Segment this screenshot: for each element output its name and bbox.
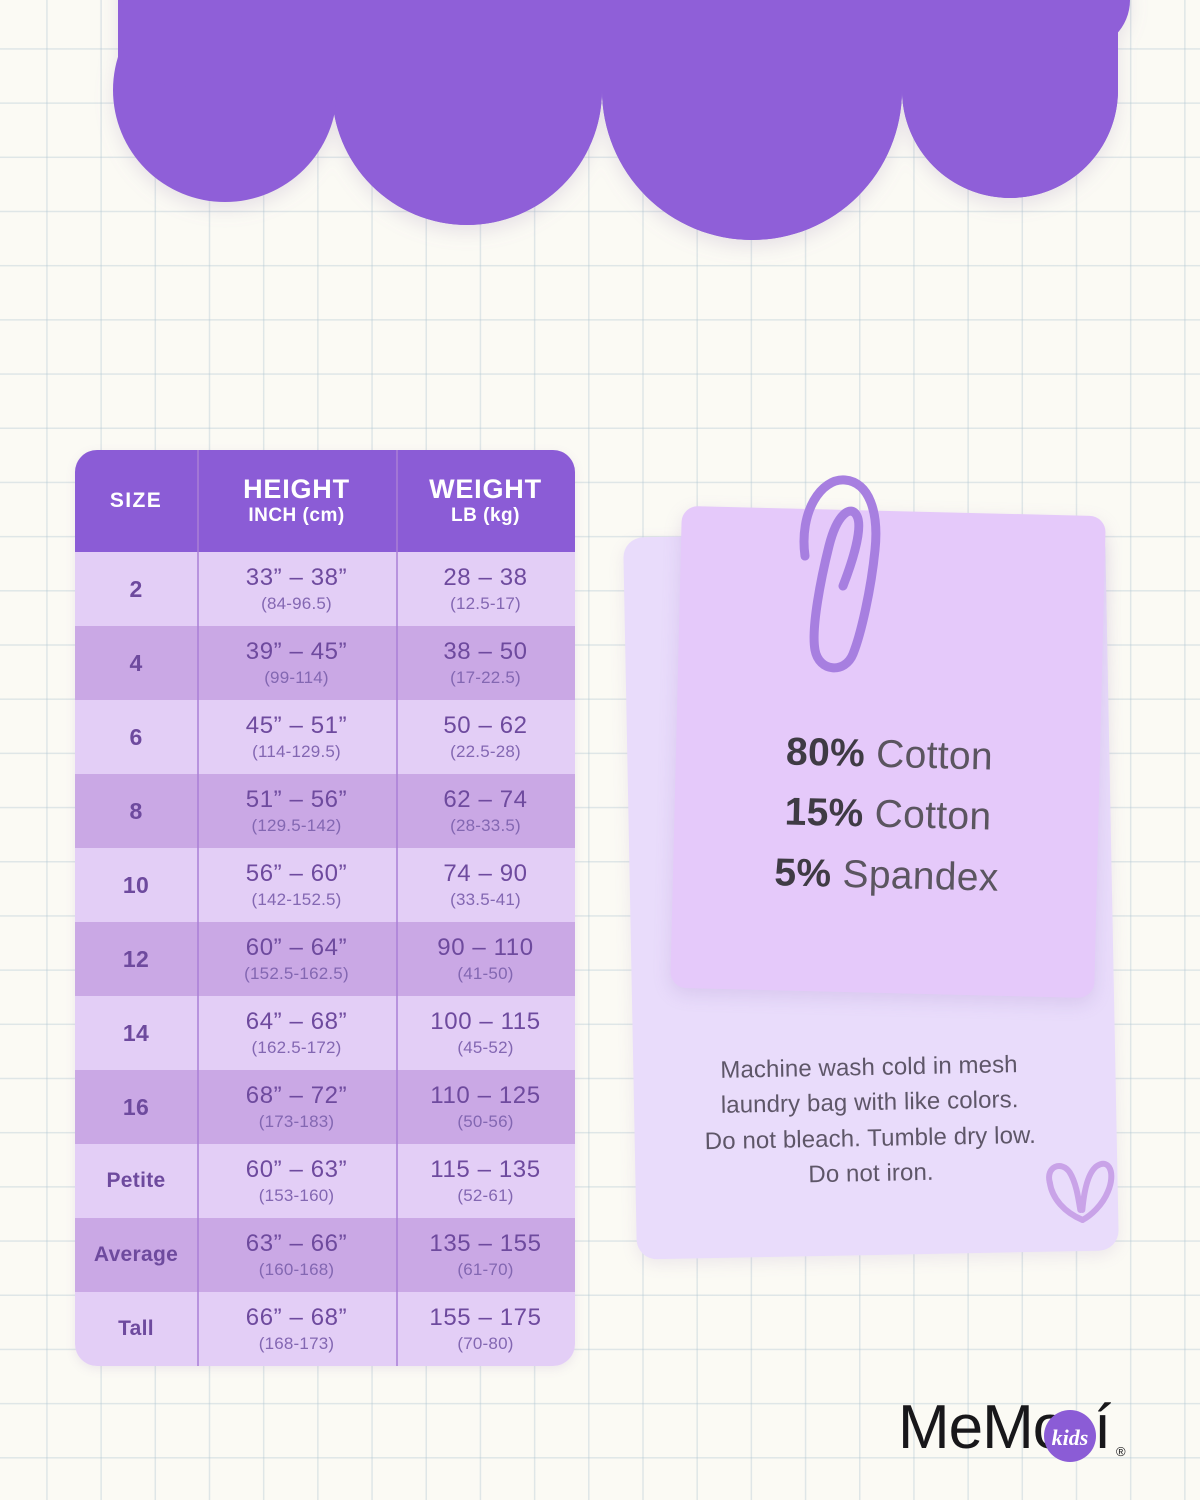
weight-kg: (61-70) [457, 1260, 513, 1280]
height-cm: (153-160) [259, 1186, 335, 1206]
height-inches: 66” – 68” [246, 1304, 347, 1332]
table-row: 851” – 56”(129.5-142)62 – 74(28-33.5) [75, 774, 575, 848]
cell-size: 4 [75, 626, 197, 700]
kids-badge-label: kids [1052, 1425, 1089, 1450]
size-value: Tall [118, 1317, 154, 1341]
table-header-row: SIZE HEIGHT INCH (cm) WEIGHT LB (kg) [75, 450, 575, 552]
weight-kg: (22.5-28) [450, 742, 521, 762]
column-header-height: HEIGHT INCH (cm) [197, 450, 396, 552]
cell-size: Average [75, 1218, 197, 1292]
table-row: Average63” – 66”(160-168)135 – 155(61-70… [75, 1218, 575, 1292]
table-row: 645” – 51”(114-129.5)50 – 62(22.5-28) [75, 700, 575, 774]
weight-lb: 135 – 155 [429, 1230, 541, 1258]
cell-weight: 155 – 175(70-80) [396, 1292, 575, 1366]
height-inches: 39” – 45” [246, 638, 347, 666]
size-value: Average [94, 1243, 178, 1267]
weight-kg: (41-50) [457, 964, 513, 984]
cell-height: 45” – 51”(114-129.5) [197, 700, 396, 774]
care-instructions: Machine wash cold in meshlaundry bag wit… [649, 1046, 1092, 1195]
cell-size: 8 [75, 774, 197, 848]
composition-line: 15% Cotton [675, 780, 1100, 851]
table-row: 1260” – 64”(152.5-162.5)90 – 110(41-50) [75, 922, 575, 996]
composition-line: 80% Cotton [677, 720, 1102, 791]
weight-lb: 62 – 74 [443, 786, 527, 814]
height-cm: (173-183) [259, 1112, 335, 1132]
weight-kg: (70-80) [457, 1334, 513, 1354]
height-inches: 45” – 51” [246, 712, 347, 740]
column-divider-1 [197, 450, 199, 1366]
logo-accent-letter: í [1094, 1393, 1111, 1462]
composition-percent: 5% [774, 851, 832, 895]
cell-height: 60” – 64”(152.5-162.5) [197, 922, 396, 996]
height-inches: 60” – 64” [246, 934, 347, 962]
table-body: 233” – 38”(84-96.5)28 – 38(12.5-17)439” … [75, 552, 575, 1366]
column-header-size: SIZE [75, 450, 197, 552]
table-row: 1056” – 60”(142-152.5)74 – 90(33.5-41) [75, 848, 575, 922]
composition-material: Cotton [876, 733, 994, 779]
composition-percent: 15% [784, 791, 864, 836]
cell-weight: 115 – 135(52-61) [396, 1144, 575, 1218]
height-cm: (142-152.5) [251, 890, 341, 910]
memoi-kids-logo: MeMo kids í ® [898, 1390, 1136, 1468]
weight-kg: (12.5-17) [450, 594, 521, 614]
size-value: 6 [129, 724, 142, 751]
weight-kg: (33.5-41) [450, 890, 521, 910]
size-value: 12 [123, 946, 149, 973]
height-cm: (114-129.5) [252, 742, 341, 762]
height-cm: (168-173) [259, 1334, 335, 1354]
weight-lb: 155 – 175 [429, 1304, 541, 1332]
cell-size: 6 [75, 700, 197, 774]
cell-height: 56” – 60”(142-152.5) [197, 848, 396, 922]
cell-size: 16 [75, 1070, 197, 1144]
table-row: Tall66” – 68”(168-173)155 – 175(70-80) [75, 1292, 575, 1366]
column-header-weight: WEIGHT LB (kg) [396, 450, 575, 552]
cell-height: 63” – 66”(160-168) [197, 1218, 396, 1292]
height-cm: (99-114) [264, 668, 329, 688]
weight-lb: 115 – 135 [430, 1156, 540, 1184]
composition-material: Spandex [842, 853, 999, 900]
table-row: 439” – 45”(99-114)38 – 50(17-22.5) [75, 626, 575, 700]
cell-weight: 100 – 115(45-52) [396, 996, 575, 1070]
cell-height: 66” – 68”(168-173) [197, 1292, 396, 1366]
height-inches: 51” – 56” [246, 786, 347, 814]
weight-kg: (45-52) [457, 1038, 513, 1058]
height-inches: 64” – 68” [246, 1008, 347, 1036]
cell-size: Petite [75, 1144, 197, 1218]
height-cm: (160-168) [259, 1260, 335, 1280]
cell-weight: 38 – 50(17-22.5) [396, 626, 575, 700]
cell-size: Tall [75, 1292, 197, 1366]
cell-weight: 28 – 38(12.5-17) [396, 552, 575, 626]
logo-wordmark: MeMo [898, 1393, 1066, 1462]
cell-weight: 62 – 74(28-33.5) [396, 774, 575, 848]
size-value: 10 [123, 872, 149, 899]
weight-lb: 50 – 62 [443, 712, 527, 740]
height-cm: (129.5-142) [251, 816, 341, 836]
cell-size: 10 [75, 848, 197, 922]
cell-size: 14 [75, 996, 197, 1070]
cloud-header-banner: Find your suitable size [0, 0, 1200, 390]
weight-lb: 74 – 90 [443, 860, 527, 888]
cell-weight: 135 – 155(61-70) [396, 1218, 575, 1292]
size-value: 16 [123, 1094, 149, 1121]
cell-height: 51” – 56”(129.5-142) [197, 774, 396, 848]
composition-material: Cotton [874, 793, 992, 839]
height-inches: 60” – 63” [246, 1156, 347, 1184]
cell-height: 33” – 38”(84-96.5) [197, 552, 396, 626]
weight-lb: 110 – 125 [430, 1082, 540, 1110]
height-inches: 68” – 72” [246, 1082, 347, 1110]
size-chart-table: SIZE HEIGHT INCH (cm) WEIGHT LB (kg) 233… [75, 450, 575, 1366]
size-value: 2 [129, 576, 142, 603]
height-inches: 56” – 60” [246, 860, 347, 888]
cell-weight: 90 – 110(41-50) [396, 922, 575, 996]
cell-height: 68” – 72”(173-183) [197, 1070, 396, 1144]
registered-trademark: ® [1116, 1444, 1126, 1459]
size-value: Petite [107, 1169, 166, 1193]
cell-height: 39” – 45”(99-114) [197, 626, 396, 700]
height-inches: 63” – 66” [246, 1230, 347, 1258]
cell-size: 2 [75, 552, 197, 626]
cell-size: 12 [75, 922, 197, 996]
weight-kg: (50-56) [457, 1112, 513, 1132]
fabric-composition: 80% Cotton15% Cotton5% Spandex [674, 720, 1102, 912]
table-row: 233” – 38”(84-96.5)28 – 38(12.5-17) [75, 552, 575, 626]
size-value: 14 [123, 1020, 149, 1047]
composition-line: 5% Spandex [674, 841, 1099, 912]
weight-lb: 90 – 110 [437, 934, 533, 962]
weight-kg: (52-61) [457, 1186, 513, 1206]
cell-weight: 50 – 62(22.5-28) [396, 700, 575, 774]
weight-lb: 28 – 38 [443, 564, 527, 592]
table-row: Petite60” – 63”(153-160)115 – 135(52-61) [75, 1144, 575, 1218]
cell-height: 60” – 63”(153-160) [197, 1144, 396, 1218]
cell-weight: 74 – 90(33.5-41) [396, 848, 575, 922]
height-cm: (162.5-172) [251, 1038, 341, 1058]
cell-weight: 110 – 125(50-56) [396, 1070, 575, 1144]
size-value: 4 [129, 650, 142, 677]
column-divider-2 [396, 450, 398, 1366]
size-value: 8 [129, 798, 142, 825]
composition-percent: 80% [786, 730, 866, 775]
height-cm: (84-96.5) [261, 594, 332, 614]
cell-height: 64” – 68”(162.5-172) [197, 996, 396, 1070]
cloud-shape [113, 0, 1130, 240]
heart-doodle-icon [1037, 1151, 1121, 1235]
weight-lb: 100 – 115 [430, 1008, 540, 1036]
weight-kg: (28-33.5) [450, 816, 521, 836]
weight-lb: 38 – 50 [443, 638, 527, 666]
height-cm: (152.5-162.5) [244, 964, 349, 984]
paperclip-icon [795, 468, 885, 678]
table-row: 1464” – 68”(162.5-172)100 – 115(45-52) [75, 996, 575, 1070]
table-row: 1668” – 72”(173-183)110 – 125(50-56) [75, 1070, 575, 1144]
weight-kg: (17-22.5) [450, 668, 521, 688]
height-inches: 33” – 38” [246, 564, 347, 592]
